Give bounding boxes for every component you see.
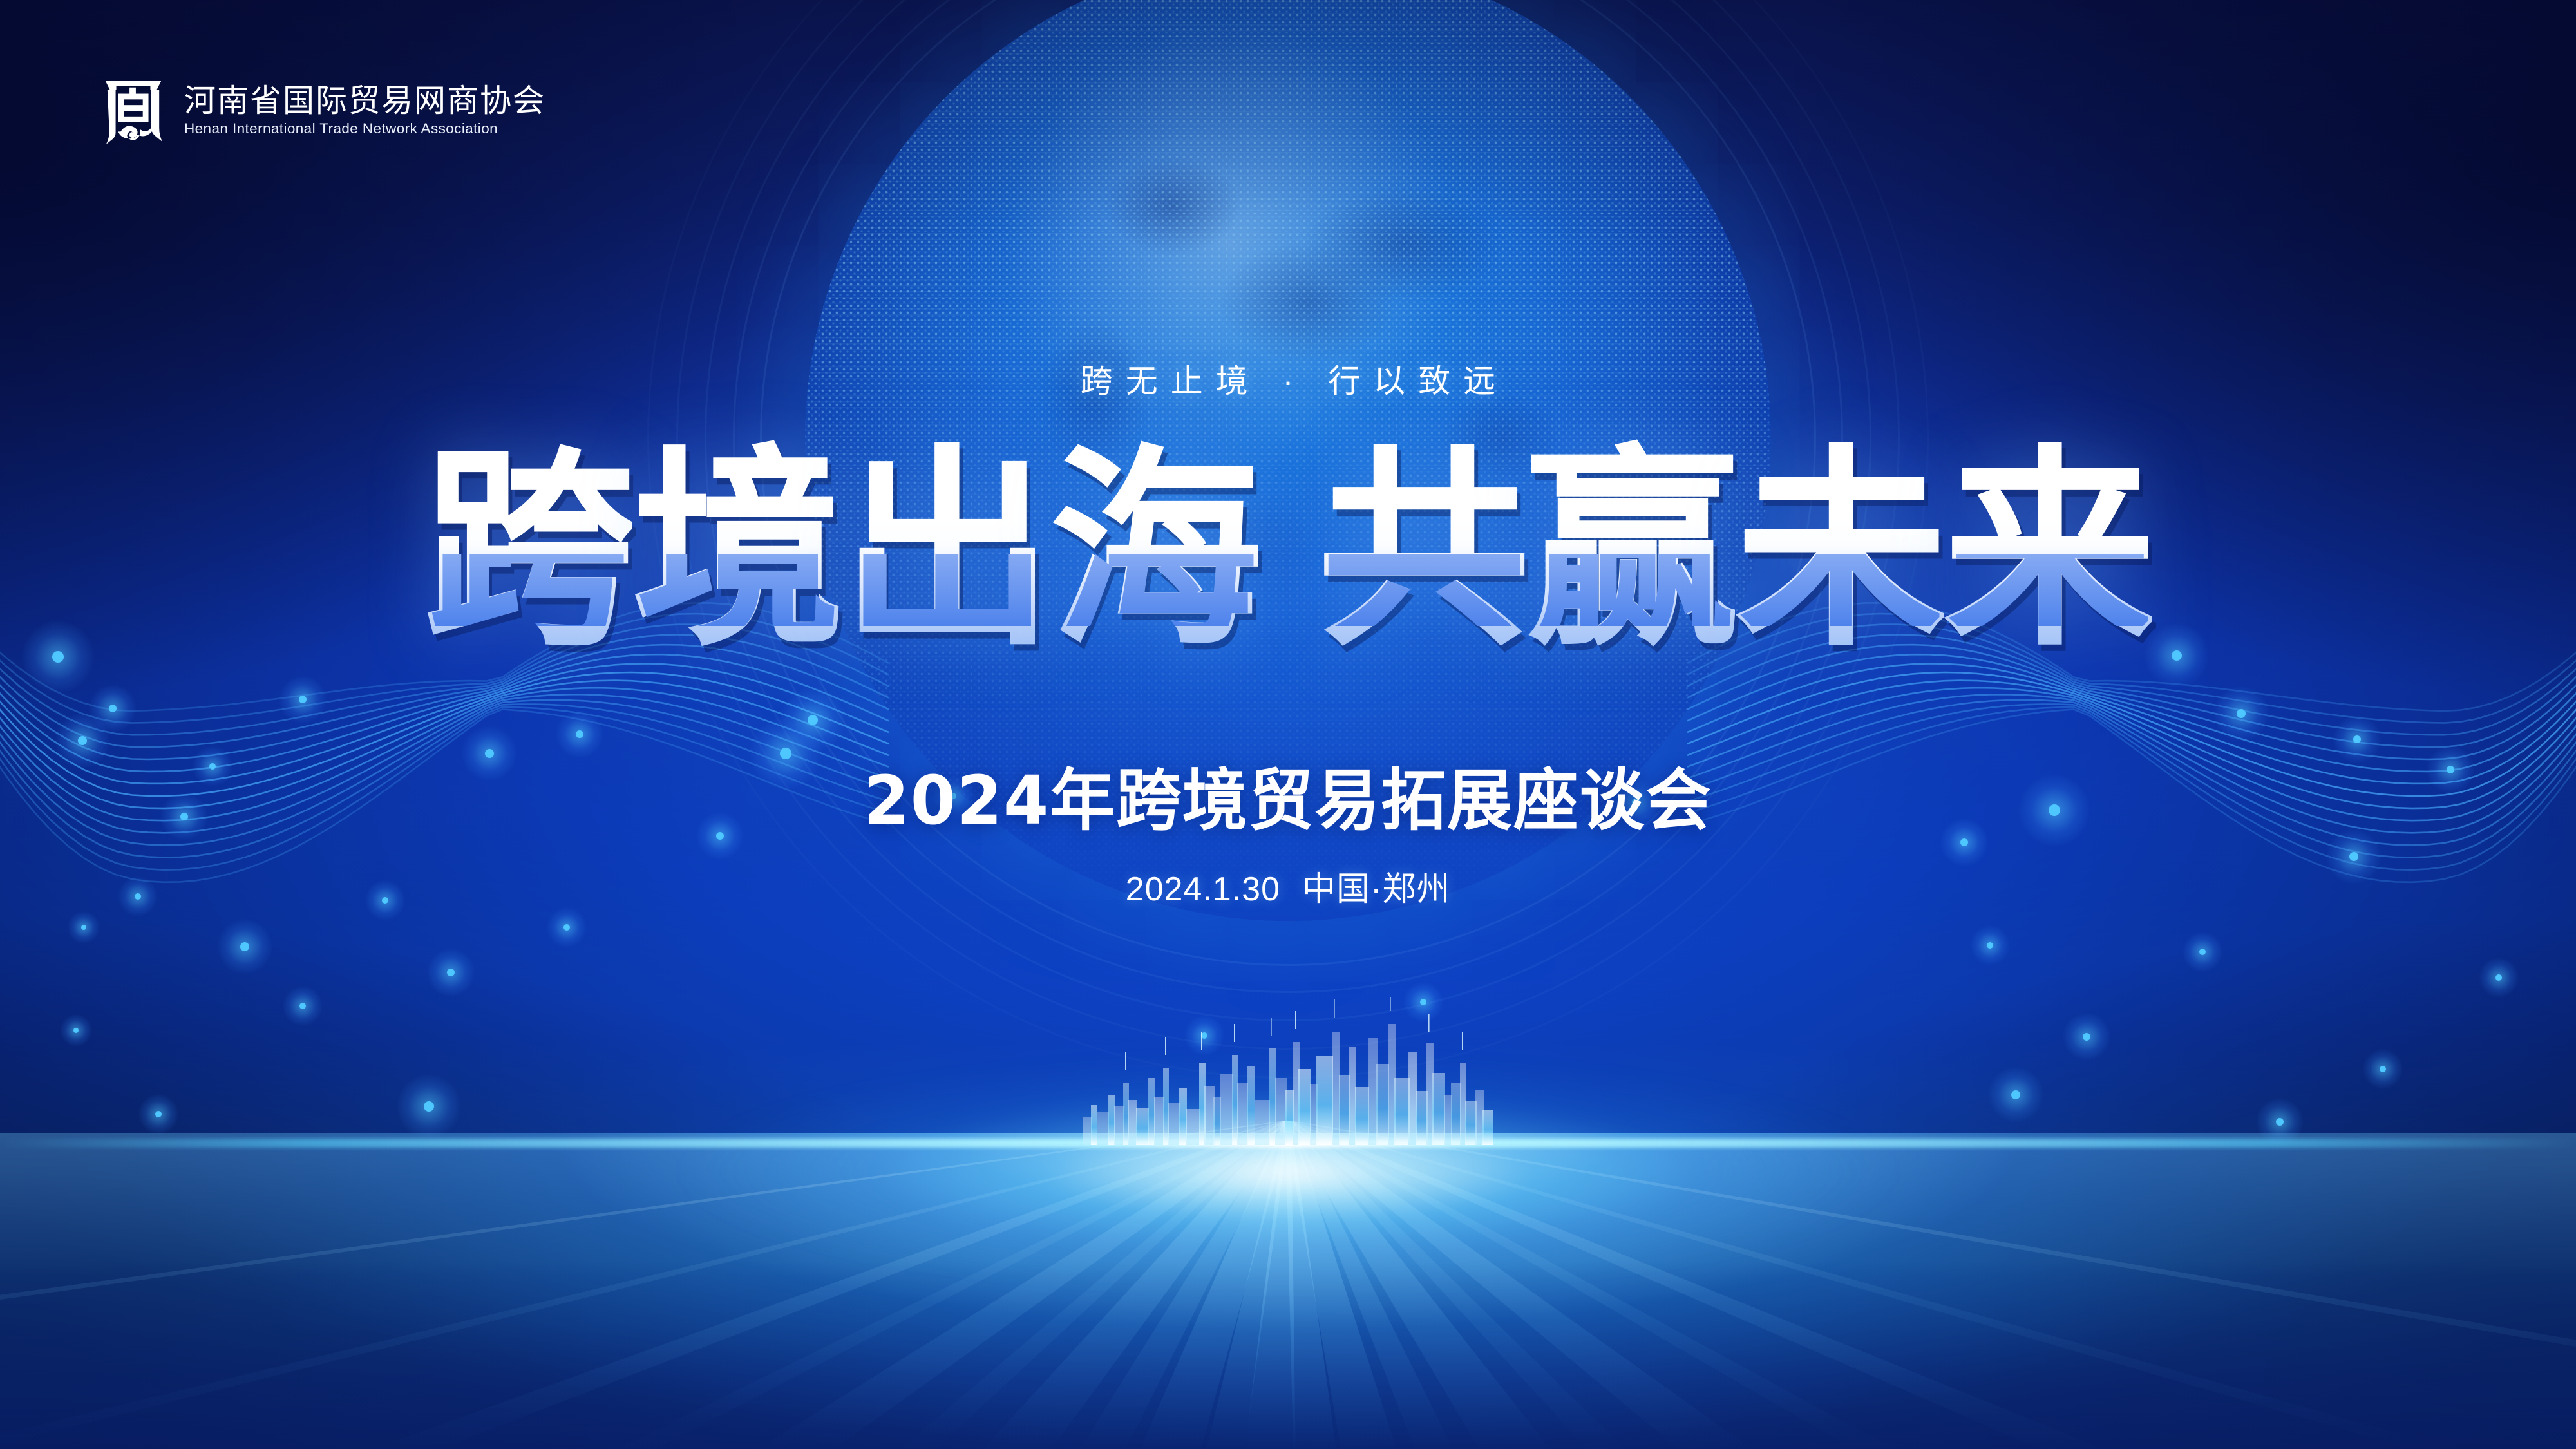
event-venue: 中国·郑州 xyxy=(1302,871,1450,908)
headline-char-wrap: 跨跨 xyxy=(424,444,632,657)
association-logo[interactable]: 河南省国际贸易网商协会 Henan International Trade Ne… xyxy=(102,77,545,144)
headline-char-fill: 来 xyxy=(1944,427,2152,674)
hero-headline: 跨跨境境出出海海 共共赢赢未未来来 xyxy=(0,444,2576,657)
headline-char-wrap: 境境 xyxy=(632,444,841,657)
headline-char-fill: 出 xyxy=(841,427,1050,674)
logo-name-cn: 河南省国际贸易网商协会 xyxy=(184,85,545,118)
headline-char-wrap: 来来 xyxy=(1944,444,2152,657)
seal-logo-icon xyxy=(102,77,165,144)
headline-char-fill: 跨 xyxy=(424,427,632,674)
hero-tagline: 跨无止境 · 行以致远 xyxy=(0,355,2576,402)
event-date: 2024.1.30 xyxy=(1126,871,1280,908)
headline-char-fill: 共 xyxy=(1318,427,1526,674)
event-date-venue: 2024.1.30中国·郑州 xyxy=(0,862,2576,910)
headline-char-fill: 赢 xyxy=(1526,427,1735,674)
event-banner: 河南省国际贸易网商协会 Henan International Trade Ne… xyxy=(0,0,2576,1449)
headline-char-fill: 海 xyxy=(1050,427,1258,674)
headline-char-wrap: 赢赢 xyxy=(1526,444,1735,657)
logo-name-en: Henan International Trade Network Associ… xyxy=(184,121,545,137)
headline-char-fill: 未 xyxy=(1735,427,1944,674)
headline-char-wrap: 海海 xyxy=(1050,444,1258,657)
headline-char-wrap: 未未 xyxy=(1735,444,1944,657)
headline-phrase-1: 跨跨境境出出海海 xyxy=(424,444,1258,657)
headline-phrase-2: 共共赢赢未未来来 xyxy=(1318,444,2152,657)
headline-char-wrap: 出出 xyxy=(841,444,1050,657)
headline-char-fill: 境 xyxy=(632,427,841,674)
headline-char-wrap: 共共 xyxy=(1318,444,1526,657)
hero-subtitle: 2024年跨境贸易拓展座谈会 xyxy=(39,746,2537,843)
